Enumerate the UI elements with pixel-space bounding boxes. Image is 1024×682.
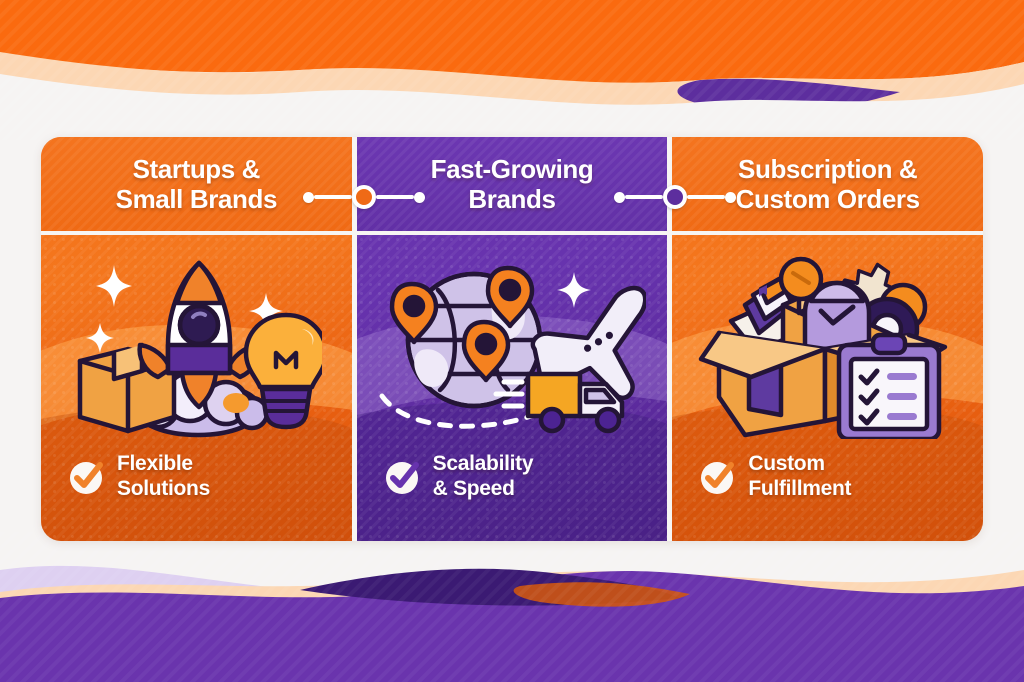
- infographic-canvas: Startups & Small Brands: [0, 0, 1024, 682]
- caption-text-startups: Flexible Solutions: [117, 452, 210, 501]
- three-panel-card: Startups & Small Brands: [41, 137, 983, 541]
- step-connector-one-two: [303, 184, 425, 210]
- panel-title-subscription: Subscription & Custom Orders: [706, 154, 950, 214]
- panel-caption-startups: Flexible Solutions: [67, 452, 210, 501]
- open-box-gear-clipboard-illustration: [672, 241, 983, 446]
- panel-title-startups: Startups & Small Brands: [86, 154, 307, 214]
- connector-line-left: [625, 195, 663, 199]
- connector-line-right: [376, 195, 414, 199]
- check-circle-icon: [67, 457, 107, 497]
- check-circle-icon: [383, 457, 423, 497]
- globe-plane-truck-illustration: [357, 241, 668, 446]
- connector-line-right: [687, 195, 725, 199]
- connector-node-one[interactable]: [352, 185, 376, 209]
- connector-dot-left: [614, 192, 625, 203]
- bottom-wave-band: [0, 532, 1024, 682]
- connector-node-two[interactable]: [663, 185, 687, 209]
- connector-dot-right: [414, 192, 425, 203]
- panel-title-fast-growing: Fast-Growing Brands: [401, 154, 624, 214]
- top-wave-band: [0, 0, 1024, 140]
- panel-caption-subscription: Custom Fulfillment: [698, 452, 851, 501]
- panel-body-fast-growing: Scalability & Speed: [357, 235, 668, 541]
- connector-dot-left: [303, 192, 314, 203]
- check-circle-icon: [698, 457, 738, 497]
- caption-text-fast-growing: Scalability & Speed: [433, 452, 534, 501]
- step-connector-two-three: [614, 184, 736, 210]
- rocket-box-lightbulb-illustration: [41, 241, 352, 446]
- caption-text-subscription: Custom Fulfillment: [748, 452, 851, 501]
- panel-body-subscription: Custom Fulfillment: [672, 235, 983, 541]
- panel-body-startups: Flexible Solutions: [41, 235, 352, 541]
- connector-line-left: [314, 195, 352, 199]
- panel-caption-fast-growing: Scalability & Speed: [383, 452, 534, 501]
- connector-dot-right: [725, 192, 736, 203]
